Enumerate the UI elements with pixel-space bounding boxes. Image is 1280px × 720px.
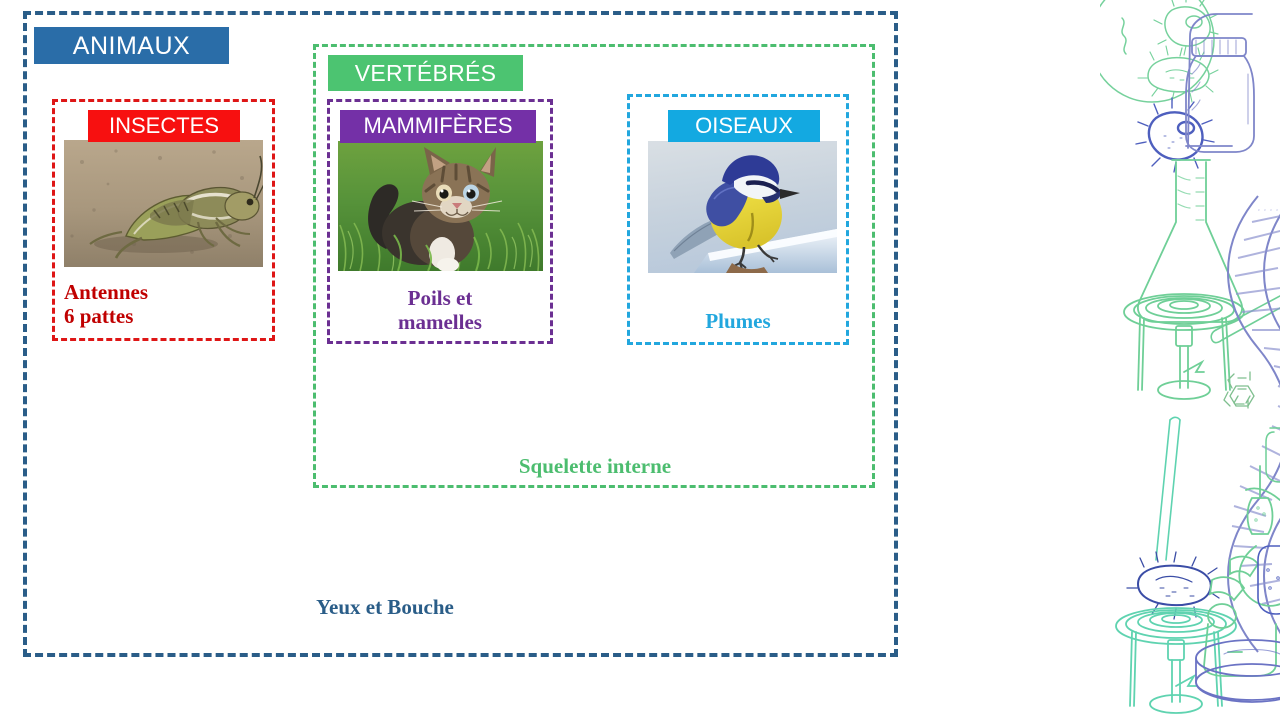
- grasshopper-photo: [64, 140, 263, 267]
- mammiferes-caption-line2: mamelles: [333, 311, 547, 335]
- insectes-caption-line2: 6 pattes: [64, 305, 264, 329]
- vertebres-title-chip: VERTÉBRÉS: [328, 55, 523, 91]
- mammiferes-caption-line1: Poils et: [333, 287, 547, 311]
- insectes-caption-line1: Antennes: [64, 281, 264, 305]
- mammiferes-title-chip: MAMMIFÈRES: [340, 110, 536, 143]
- blue-tit-bird-photo: [648, 141, 837, 273]
- mammiferes-caption: Poils et mamelles: [333, 287, 547, 334]
- science-doodles-illustration: [1100, 0, 1280, 720]
- kitten-photo: [338, 141, 543, 271]
- slide-canvas: ANIMAUX VERTÉBRÉS INSECTES MAMMIFÈRES OI…: [0, 0, 1280, 720]
- oiseaux-title-chip: OISEAUX: [668, 110, 820, 142]
- insectes-caption: Antennes 6 pattes: [64, 281, 264, 328]
- oiseaux-caption: Plumes: [633, 310, 843, 334]
- vertebres-caption: Squelette interne: [370, 455, 820, 479]
- animaux-title-chip: ANIMAUX: [34, 27, 229, 64]
- animaux-caption: Yeux et Bouche: [185, 596, 585, 620]
- insectes-title-chip: INSECTES: [88, 110, 240, 142]
- oiseaux-caption-line1: Plumes: [633, 310, 843, 334]
